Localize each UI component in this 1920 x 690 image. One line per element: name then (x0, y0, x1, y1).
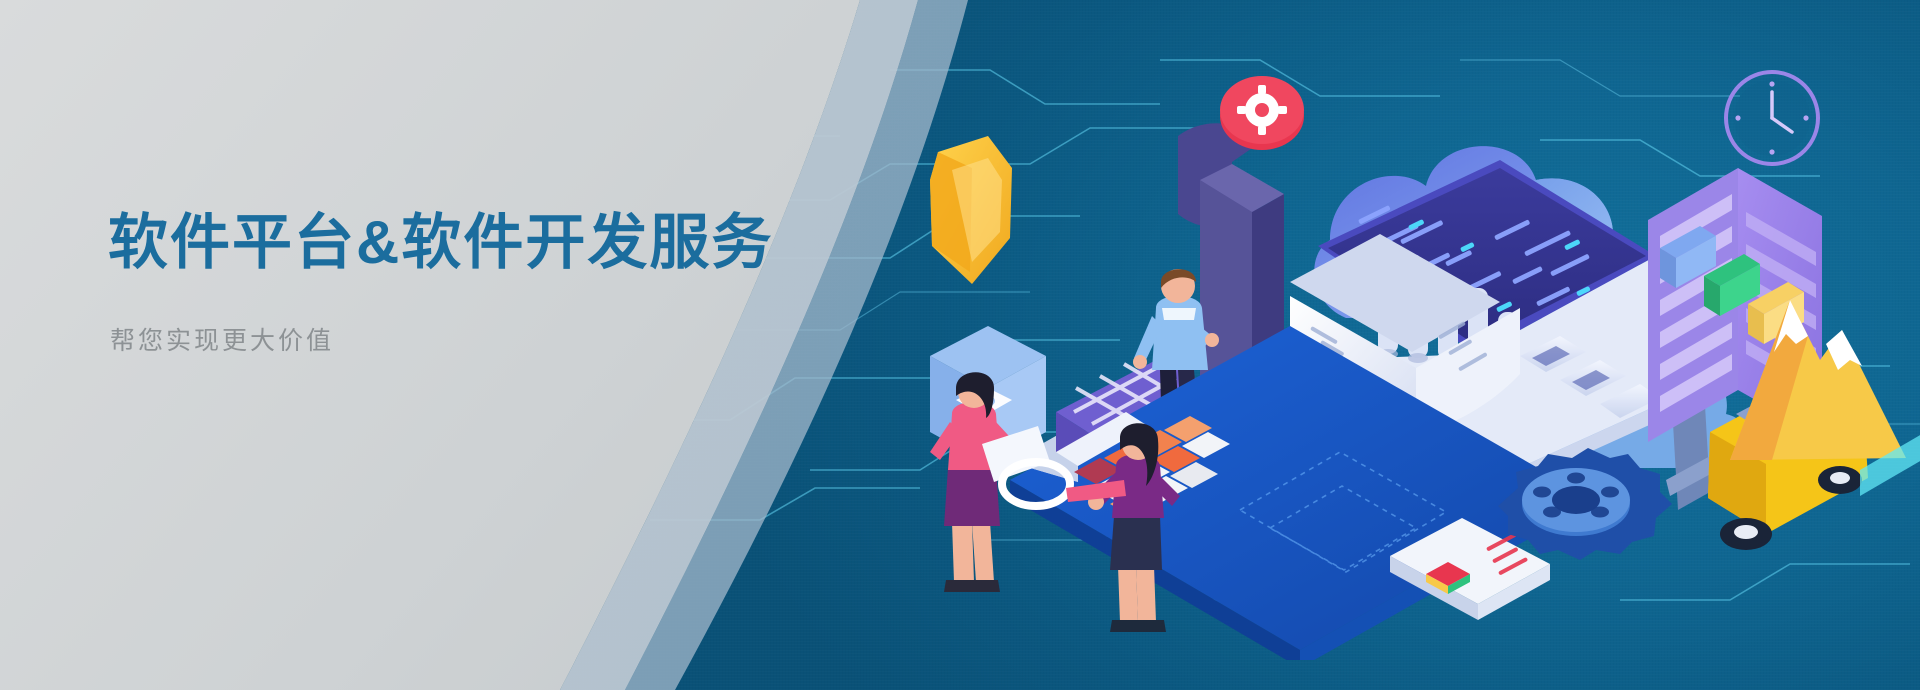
page-title: 软件平台&软件开发服务 (108, 208, 773, 279)
shield-icon (930, 136, 1012, 284)
hero-illustration (860, 40, 1920, 660)
hero-banner: 软件平台&软件开发服务 帮您实现更大价值 (0, 0, 1920, 690)
clock-icon (1726, 72, 1818, 164)
gear-badge-icon (1220, 76, 1304, 150)
hero-copy-block: 软件平台&软件开发服务 帮您实现更大价值 (108, 208, 773, 357)
page-subtitle: 帮您实现更大价值 (110, 321, 773, 357)
